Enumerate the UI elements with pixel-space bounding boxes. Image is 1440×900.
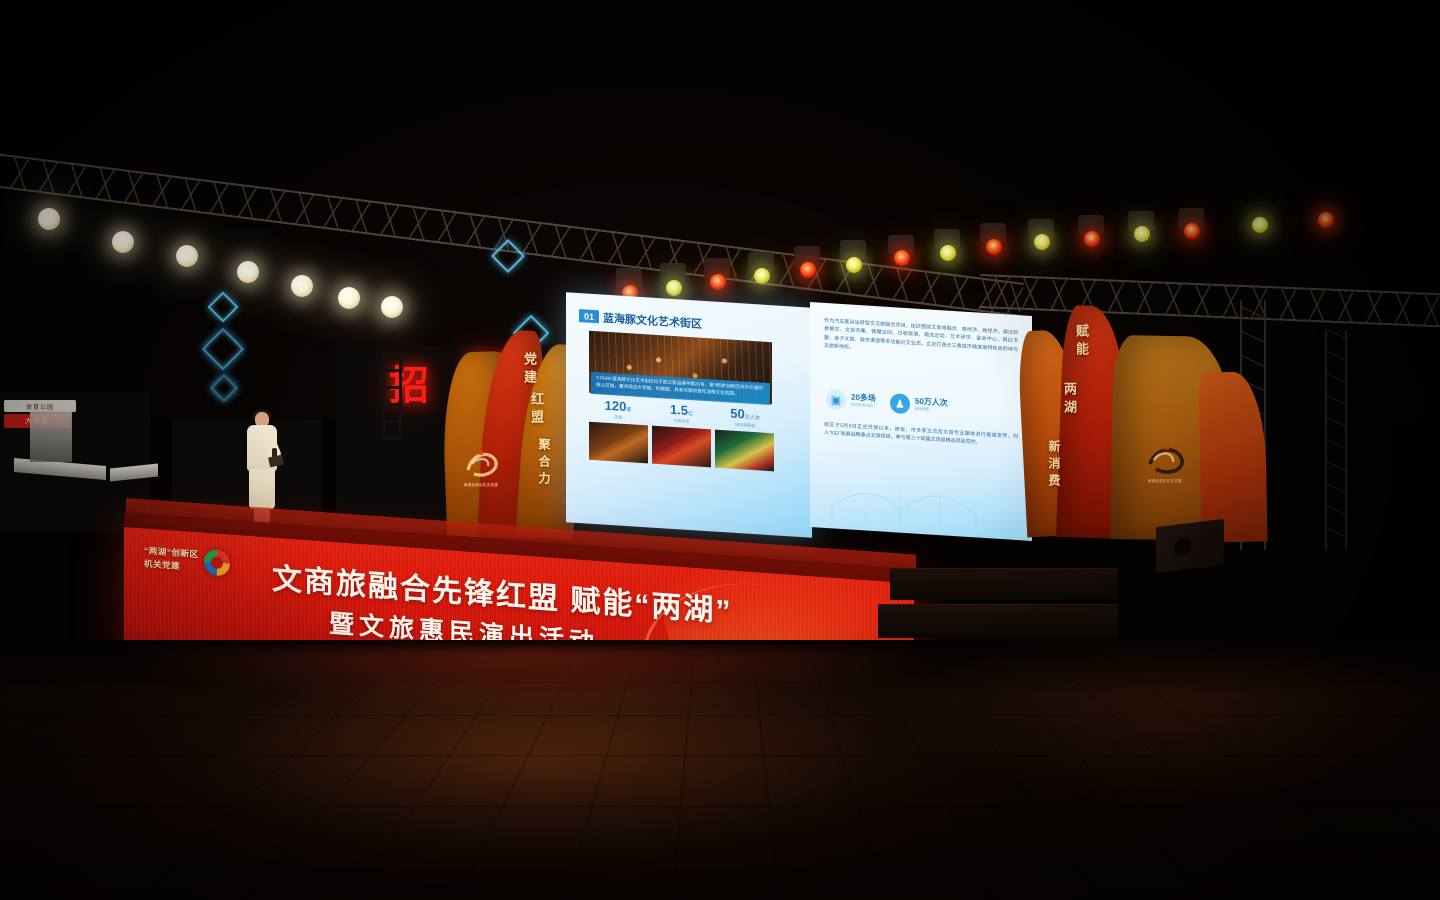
globe-lamp [291,275,313,297]
par-lamp-red [1184,223,1200,239]
screen-icon: ▣ [826,389,846,410]
person-icon: ♟ [890,393,910,414]
globe-lamp [176,245,198,267]
par-lamp-lime [1252,217,1268,233]
par-lamp-lime [940,245,956,261]
party-building-emblem-icon [458,440,504,484]
stat-caption: 已投资金 [653,417,711,427]
truss-tower-right [1325,330,1347,550]
stat-value: 120 [605,398,627,414]
par-lamp-red [1084,231,1100,247]
slide-thumbnail [715,430,774,472]
par-lamp-red [710,274,726,290]
par-lamp-red [800,262,816,278]
par-lamp-red [894,250,910,266]
stat-caption: 接待游客量 [716,421,774,431]
kiosk-box [30,410,72,462]
sparkle-tree-left [200,290,250,410]
led-screen-left-panel: 01 蓝海豚文化艺术街区 T-PARK蓝海豚文化艺术街区位于武汉客运港中路20号… [566,292,812,537]
presenter-skirt [249,469,275,509]
par-lamp-lime [846,257,862,273]
globe-lamp [38,208,60,230]
deco-left-line1: 党建 [520,352,539,388]
par-lamp-lime [754,268,770,284]
globe-lamp [381,296,403,318]
stage-floor-glow [120,648,940,708]
deco-right-logo: 两湖创新区机关党建 [1142,436,1188,488]
deco-left-logo: 两湖创新区机关党建 [458,440,504,492]
slide-paragraph-1: 作为汽车客运站转型文交旅融合项目，街区围绕文商旅融合、夜经济、她经济，通过创意餐… [824,317,1018,363]
stat-value: 50 [730,406,744,422]
step [890,568,1118,600]
party-building-emblem-icon [1142,436,1188,480]
step [878,604,1118,638]
deco-right-line2: 两湖 [1060,382,1079,418]
deco-left-logo-caption: 两湖创新区机关党建 [458,482,504,487]
slide-thumbnail [652,426,711,468]
deco-right-line1: 赋能 [1072,324,1091,360]
par-lamp-lime [666,280,682,296]
ladder [382,352,402,440]
slide-thumbnail [589,422,648,464]
slide-kpi-row: ▣ 20多场 举办各类活动 ♟ 50万人次 接待游客 [826,389,1016,421]
presenter-cue-card [268,455,284,468]
stage-event-photo: 招 两湖 体育公园 大饼屋 党建 红盟 聚合力 两湖创新区机关党建 01 蓝海豚… [0,0,1440,900]
slide-badge: 01 [579,309,599,323]
stage-loudspeaker [1156,519,1224,573]
led-screen-right-panel: 作为汽车客运站转型文交旅融合项目，街区围绕文商旅融合、夜经济、她经济，通过创意餐… [810,302,1032,541]
stat-unit: 亿 [688,411,693,417]
slide-stat: 120家 店铺 [589,398,647,423]
par-lamp-lime [1034,234,1050,250]
banner-logo: “两湖”创新区 机关党建 [144,538,256,584]
sparkle-tree-small [486,240,536,300]
deco-left-line2: 红盟 [527,392,546,428]
stat-value: 1.5 [670,402,688,418]
globe-lamp [112,231,134,253]
bridge-outline-graphic [830,466,1016,534]
kpi-caption: 举办各类活动 [851,402,876,409]
slide-title: 蓝海豚文化艺术街区 [603,310,702,332]
slide-kpi: ♟ 50万人次 接待游客 [890,393,948,417]
stat-unit: 万人次 [745,415,760,422]
slide-stat: 50万人次 接待游客量 [716,406,774,431]
deco-right-logo-caption: 两湖创新区机关党建 [1142,478,1188,483]
par-lamp-red [986,239,1002,255]
par-lamp-red [1318,212,1334,228]
globe-lamp [237,261,259,283]
party-emblem-logo-icon [204,549,230,577]
slide-paragraph-2: 街区于5月9日正式开放以来，被省、市多家主流及文旅专业媒体进行报道宣传，列入“5… [824,421,1018,450]
par-lamp-lime [1134,226,1150,242]
globe-lamp [338,287,360,309]
deco-left-line3: 聚合力 [536,438,553,489]
deco-right-line3: 新消费 [1046,440,1063,491]
stat-unit: 家 [626,407,631,413]
slide-stat: 1.5亿 已投资金 [653,402,711,427]
stat-caption: 店铺 [589,413,647,423]
slide-thumbnail-row [589,422,774,472]
slide-kpi: ▣ 20多场 举办各类活动 [826,389,876,412]
